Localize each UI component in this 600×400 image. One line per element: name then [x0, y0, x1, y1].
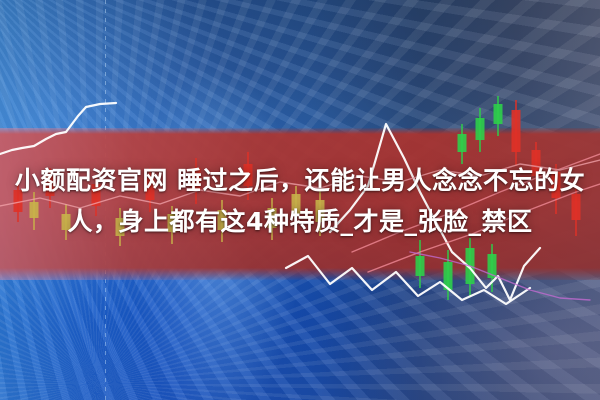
- banner-image: 小额配资官网 睡过之后，还能让男人念念不忘的女 人，身上都有这4种特质_才是_张…: [0, 0, 600, 400]
- headline-line-1: 小额配资官网 睡过之后，还能让男人念念不忘的女: [6, 160, 594, 201]
- series-magenta-curve: [410, 252, 590, 300]
- headline-text: 小额配资官网 睡过之后，还能让男人念念不忘的女 人，身上都有这4种特质_才是_张…: [0, 160, 600, 242]
- headline-line-2: 人，身上都有这4种特质_才是_张脸_禁区: [6, 201, 594, 242]
- series-left-step-line: [0, 103, 116, 154]
